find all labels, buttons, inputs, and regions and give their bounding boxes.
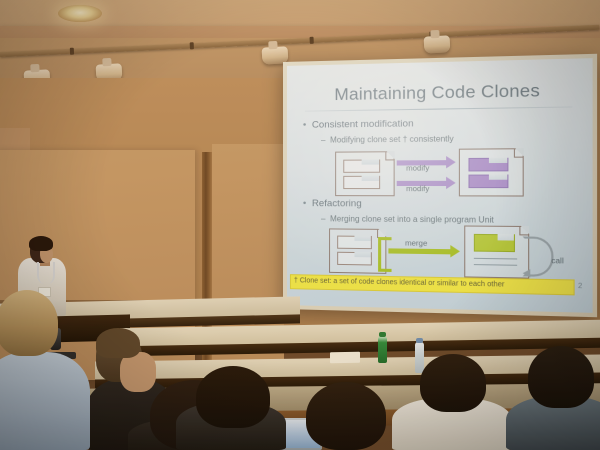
slide-subbullet-1: –Modifying clone set † consistently xyxy=(321,134,454,144)
green-tea-bottle xyxy=(378,336,387,363)
dash-icon: – xyxy=(321,136,330,145)
call-arrow xyxy=(523,236,554,277)
presenter-hair xyxy=(29,236,53,251)
bottle-cap-icon xyxy=(416,338,423,343)
audience-head-dark xyxy=(528,346,594,408)
audience-head-dark xyxy=(420,354,486,412)
clear-water-bottle xyxy=(415,342,424,373)
call-label: call xyxy=(551,256,564,266)
audience-head-blonde xyxy=(0,290,58,356)
bullet-dot-icon: • xyxy=(303,198,312,209)
can-light-icon xyxy=(58,5,102,22)
audience-body-blue-shirt xyxy=(0,352,90,450)
desk-paper xyxy=(330,352,360,364)
slide-page-number: 2 xyxy=(578,283,582,291)
audience-head-dark xyxy=(306,382,386,450)
bullet-dot-icon: • xyxy=(303,120,312,131)
modify-label-top: modify xyxy=(406,163,429,172)
slide-footnote-text: † Clone set: a set of code clones identi… xyxy=(294,277,505,288)
merge-arrow xyxy=(388,248,451,254)
dash-icon: – xyxy=(321,214,330,223)
merge-brace xyxy=(378,237,391,272)
slide-bullet-2: •Refactoring xyxy=(303,198,362,209)
audience-head-dark xyxy=(196,366,270,428)
diagram-doc-target-1 xyxy=(459,148,524,196)
modify-label-bottom: modify xyxy=(406,184,429,193)
lecture-hall-photo: Maintaining Code Clones •Consistent modi… xyxy=(0,0,600,450)
diagram-doc-source-1 xyxy=(335,151,395,196)
diagram-doc-target-2 xyxy=(464,225,529,278)
track-spotlight-icon xyxy=(424,35,451,53)
audience-hair xyxy=(96,328,140,358)
slide-bullet-1: •Consistent modification xyxy=(303,118,414,131)
presenter-lanyard xyxy=(37,262,55,284)
slide-subbullet-2: –Merging clone set into a single program… xyxy=(321,214,494,224)
audience-face xyxy=(120,352,156,392)
slide-footnote: † Clone set: a set of code clones identi… xyxy=(290,274,575,295)
bottle-cap-icon xyxy=(379,332,386,337)
merge-label: merge xyxy=(405,238,427,248)
title-divider xyxy=(305,106,572,111)
presentation-slide: Maintaining Code Clones •Consistent modi… xyxy=(287,58,593,313)
projection-screen: Maintaining Code Clones •Consistent modi… xyxy=(283,54,597,317)
slide-title: Maintaining Code Clones xyxy=(287,79,593,105)
